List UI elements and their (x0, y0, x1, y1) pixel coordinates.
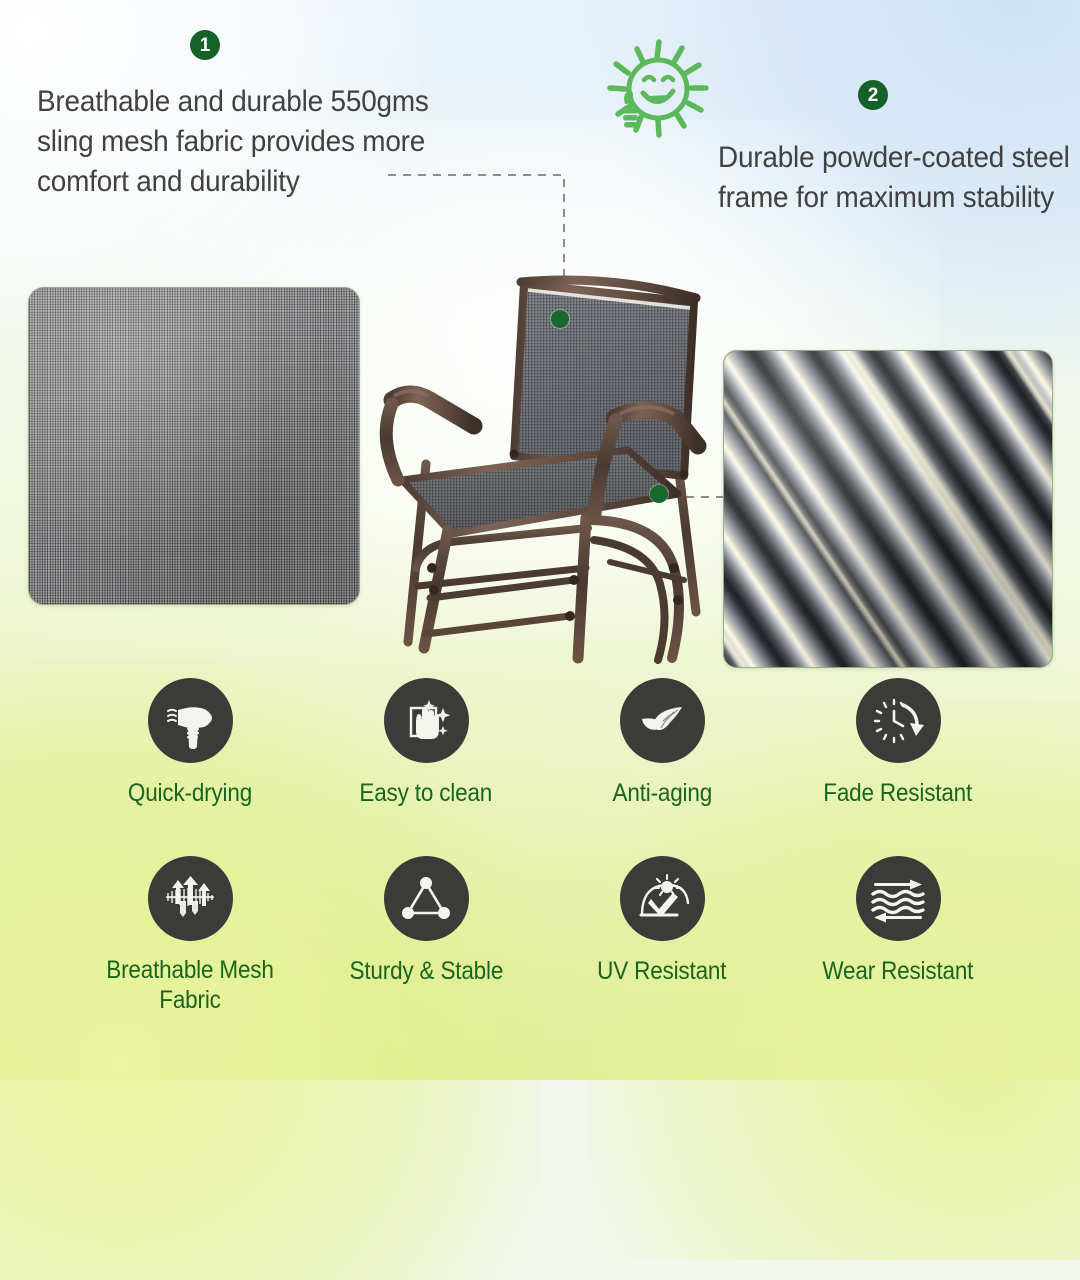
feature-label: Quick-drying (128, 778, 252, 808)
callout-dot-fabric (551, 310, 569, 328)
feature-sturdy-stable: Sturdy & Stable (308, 856, 544, 1015)
callout-badge-2: 2 (858, 80, 888, 110)
feature-icon-grid: Quick-drying Easy to clean (72, 678, 1016, 1056)
feature-uv-resistant: UV Resistant (544, 856, 780, 1015)
feature-label: Breathable Mesh Fabric (84, 956, 296, 1015)
feature-wear-resistant: Wear Resistant (780, 856, 1016, 1015)
feature-anti-aging: Anti-aging (544, 678, 780, 808)
feature-label: UV Resistant (597, 956, 726, 986)
wiping-hand-sparkle-icon (384, 678, 469, 763)
infographic-stage: 1 Breathable and durable 550gms sling me… (0, 0, 1080, 1080)
smiling-sun-thumbs-up-icon (596, 38, 718, 146)
steel-photo-lighting (724, 351, 1052, 667)
feature-label: Fade Resistant (824, 778, 973, 808)
sun-check-icon (620, 856, 705, 941)
callout-dot-frame (650, 485, 668, 503)
fabric-sheen-overlay (29, 288, 359, 604)
clock-arrow-icon (856, 678, 941, 763)
feature-row-1: Quick-drying Easy to clean (72, 678, 1016, 808)
feature-breathable-mesh-fabric: Breathable Mesh Fabric (72, 856, 308, 1015)
feature-label: Easy to clean (360, 778, 493, 808)
feature-fade-resistant: Fade Resistant (780, 678, 1016, 808)
steel-tube-photo (723, 350, 1053, 668)
leaves-icon (620, 678, 705, 763)
feature-label: Wear Resistant (823, 956, 974, 986)
callout-badge-1: 1 (190, 30, 220, 60)
feature-label: Sturdy & Stable (349, 956, 503, 986)
callout-text-1: Breathable and durable 550gms sling mesh… (37, 82, 437, 203)
feature-row-2: Breathable Mesh Fabric St (72, 856, 1016, 1015)
callout-text-2: Durable powder-coated steel frame for ma… (718, 138, 1071, 218)
triangle-nodes-icon (384, 856, 469, 941)
feature-easy-to-clean: Easy to clean (308, 678, 544, 808)
breathable-arrows-icon (148, 856, 233, 941)
fabric-swatch-image (28, 287, 360, 605)
hair-dryer-icon (148, 678, 233, 763)
feature-quick-drying: Quick-drying (72, 678, 308, 808)
product-chair-image (378, 268, 746, 670)
waves-arrows-icon (856, 856, 941, 941)
feature-label: Anti-aging (612, 778, 712, 808)
